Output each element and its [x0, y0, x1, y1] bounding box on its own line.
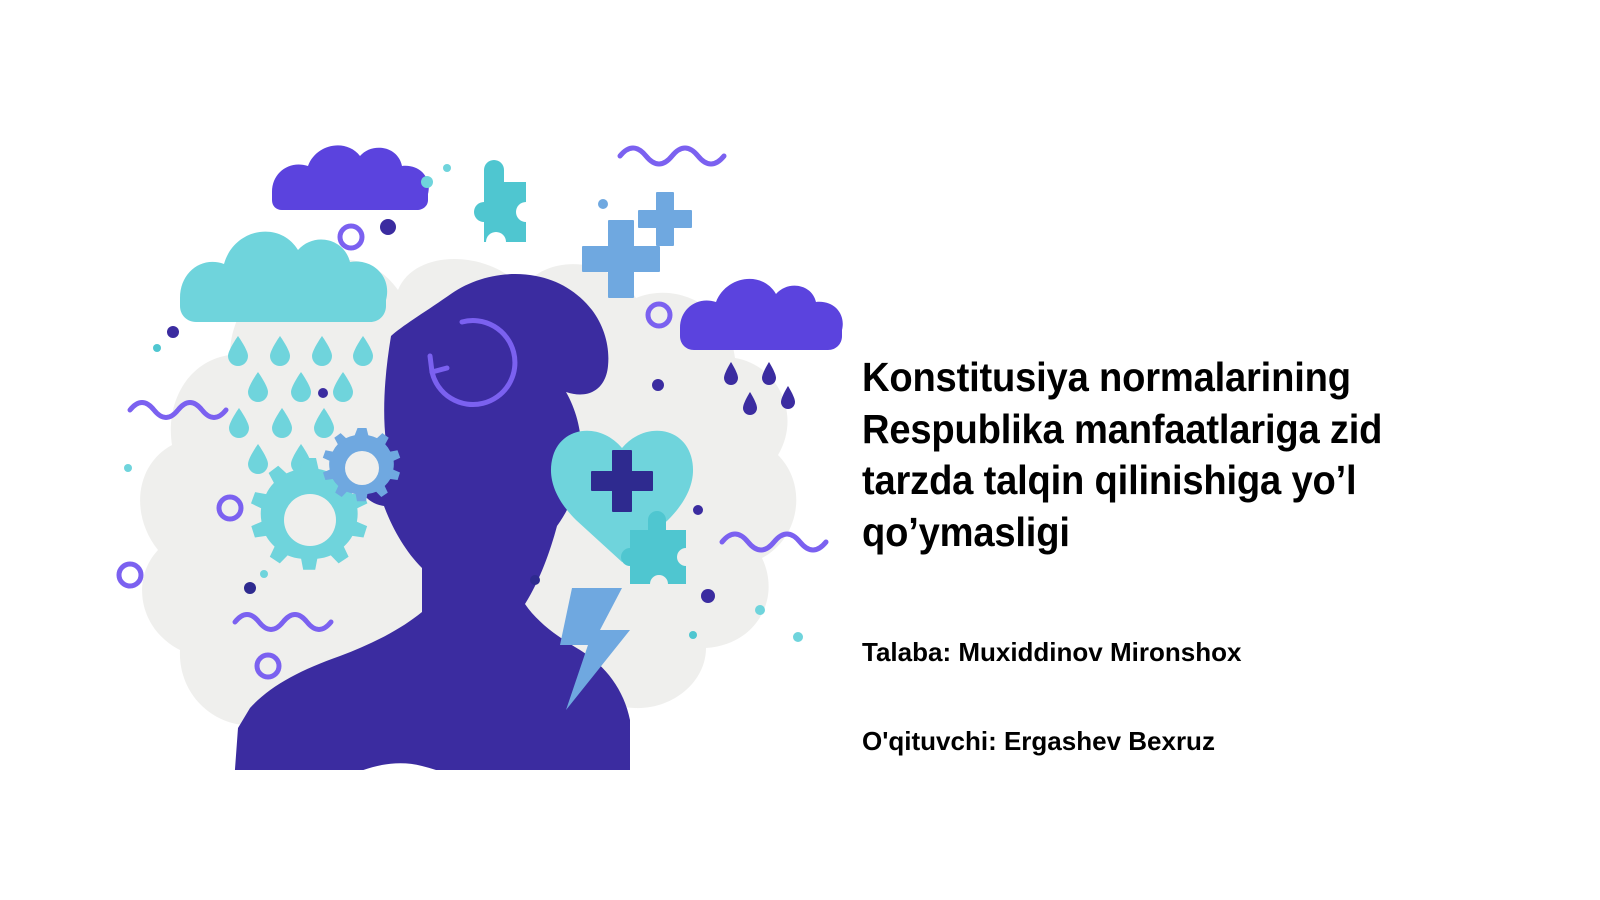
slide-canvas: Konstitusiya normalarining Respublika ma…	[0, 0, 1600, 900]
title-block: Konstitusiya normalarining Respublika ma…	[862, 352, 1512, 559]
puzzle-piece-top	[474, 160, 526, 242]
student-credit: Talaba: Muxiddinov Mironshox	[862, 637, 1241, 668]
cross-small	[638, 192, 692, 246]
mental-health-head-illustration	[110, 110, 850, 770]
purple-cloud-top	[272, 145, 429, 210]
teacher-credit: O'qituvchi: Ergashev Bexruz	[862, 726, 1215, 757]
page-title: Konstitusiya normalarining Respublika ma…	[862, 352, 1467, 559]
